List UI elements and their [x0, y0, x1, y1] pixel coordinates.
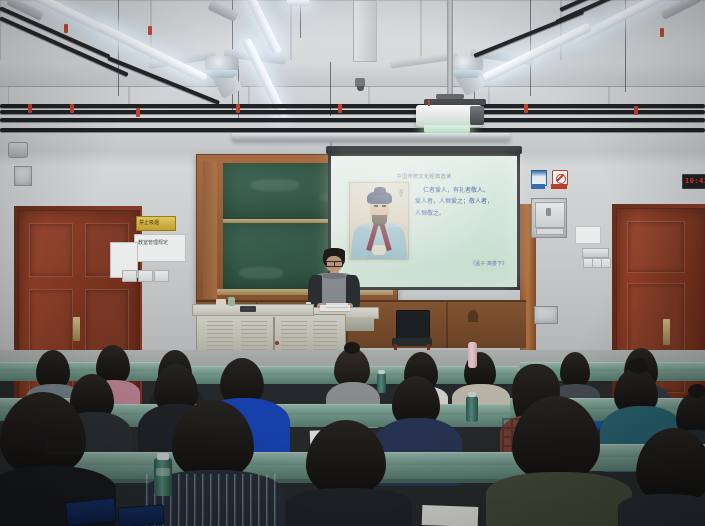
light-switch-left-1[interactable] — [122, 270, 137, 282]
wall-notice-left: 教室管理规定 — [134, 234, 186, 262]
presentation-slide: 中国传统文化经典选读 — [331, 156, 517, 287]
green-thermos-foreground — [154, 458, 172, 496]
door-handle-icon[interactable] — [663, 319, 670, 345]
chalk-box — [216, 299, 226, 306]
light-switch-left-3[interactable] — [154, 270, 169, 282]
door-handle-icon[interactable] — [73, 317, 80, 341]
desk-equipment — [240, 306, 256, 312]
green-thermos-2 — [466, 396, 478, 422]
green-bottle — [228, 297, 235, 306]
wall-speaker — [8, 142, 28, 158]
green-thermos — [377, 373, 386, 393]
smartphone[interactable] — [65, 497, 117, 526]
pink-water-bottle — [468, 342, 477, 368]
projection-screen-rail — [232, 133, 510, 141]
digital-clock: 10:42 — [682, 174, 705, 189]
wall-junction-box — [14, 166, 32, 186]
wall-label-right — [582, 248, 609, 258]
light-switch-left-2[interactable] — [138, 270, 153, 282]
lecture-hall-photo: 禁止吸烟 教室管理规定 — [0, 0, 705, 526]
electrical-panel[interactable] — [531, 198, 567, 238]
cabinet-indicator — [275, 341, 279, 345]
bench-row-near — [60, 452, 530, 466]
smartphone-2[interactable] — [117, 504, 164, 526]
student-glasses-icon — [46, 434, 84, 454]
wall-plaque: 禁止吸烟 — [136, 216, 176, 231]
wall-notice-right — [575, 226, 601, 244]
desk-paper-foreground — [422, 505, 479, 526]
projection-screen: 中国传统文化经典选读 — [331, 156, 517, 287]
ceiling — [0, 0, 705, 150]
ceiling-duct — [353, 0, 377, 62]
screen-housing — [326, 146, 522, 154]
wall-outlet-box — [534, 306, 558, 324]
light-switch-right-3[interactable] — [601, 258, 611, 268]
